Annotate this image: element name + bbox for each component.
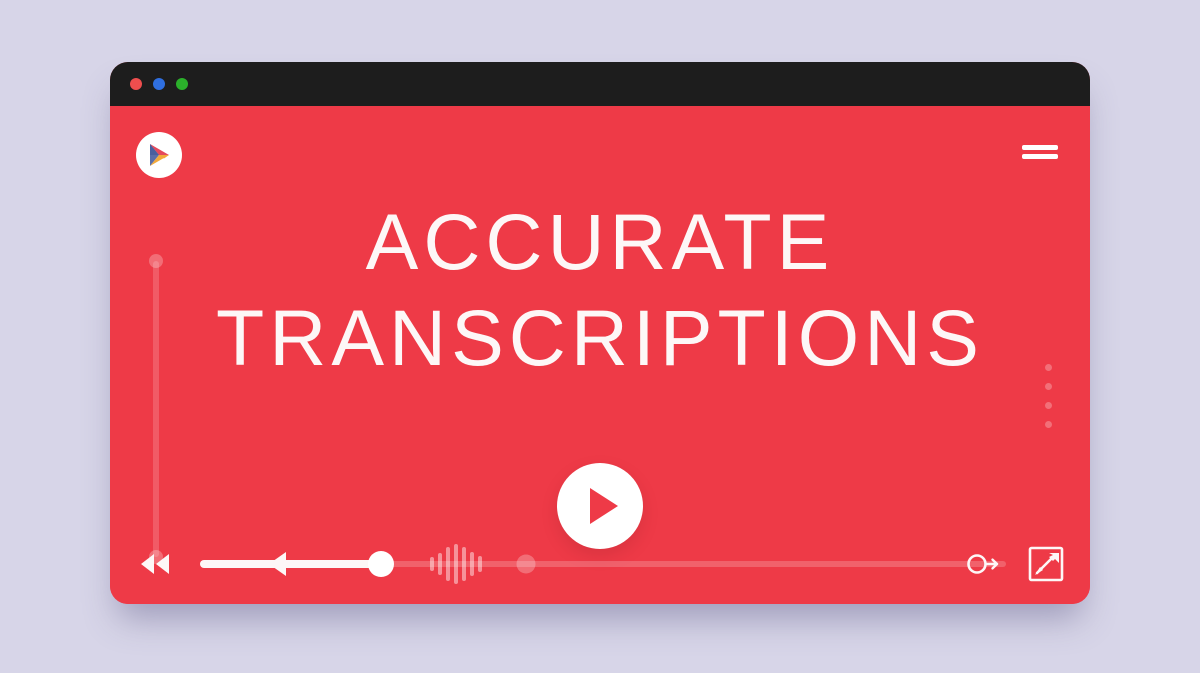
waveform-bar — [470, 552, 474, 576]
window-close-button[interactable] — [130, 78, 142, 90]
rewind-icon — [139, 553, 171, 575]
slider-knob-top[interactable] — [149, 254, 163, 268]
vertical-slider-track[interactable] — [153, 261, 159, 557]
secondary-scrub-handle[interactable] — [517, 555, 536, 574]
window-minimize-button[interactable] — [153, 78, 165, 90]
window-titlebar — [110, 62, 1090, 106]
progress-track-filled — [200, 560, 381, 568]
play-icon — [590, 488, 618, 524]
play-triangle-logo-icon — [145, 141, 173, 169]
vertical-dots-menu-icon[interactable] — [1045, 364, 1052, 428]
waveform-bar — [454, 544, 458, 584]
waveform-bar — [438, 553, 442, 575]
hamburger-menu-icon[interactable] — [1022, 142, 1058, 162]
skip-forward-circle-icon[interactable] — [966, 553, 1002, 575]
hamburger-line-2 — [1022, 154, 1058, 159]
dot-3 — [1045, 402, 1052, 409]
page-title: ACCURATE TRANSCRIPTIONS — [110, 194, 1090, 387]
window-maximize-button[interactable] — [176, 78, 188, 90]
dot-2 — [1045, 383, 1052, 390]
brand-logo[interactable] — [136, 132, 182, 178]
rewind-button[interactable] — [138, 551, 172, 577]
player-controls-bar — [110, 524, 1090, 604]
dot-4 — [1045, 421, 1052, 428]
fullscreen-button[interactable] — [1026, 544, 1066, 584]
vertical-slider[interactable] — [149, 254, 163, 564]
audio-waveform-icon — [430, 542, 482, 586]
hamburger-line-1 — [1022, 145, 1058, 150]
app-window: ACCURATE TRANSCRIPTIONS — [110, 62, 1090, 604]
video-player-stage: ACCURATE TRANSCRIPTIONS — [110, 106, 1090, 604]
expand-fullscreen-icon — [1027, 545, 1065, 583]
waveform-bar — [478, 556, 482, 572]
progress-timeline[interactable] — [200, 551, 1006, 577]
waveform-bar — [462, 547, 466, 581]
dot-1 — [1045, 364, 1052, 371]
rewind-arrow-icon — [269, 552, 286, 576]
waveform-bar — [430, 557, 434, 571]
waveform-bar — [446, 547, 450, 581]
progress-handle[interactable] — [368, 551, 394, 577]
